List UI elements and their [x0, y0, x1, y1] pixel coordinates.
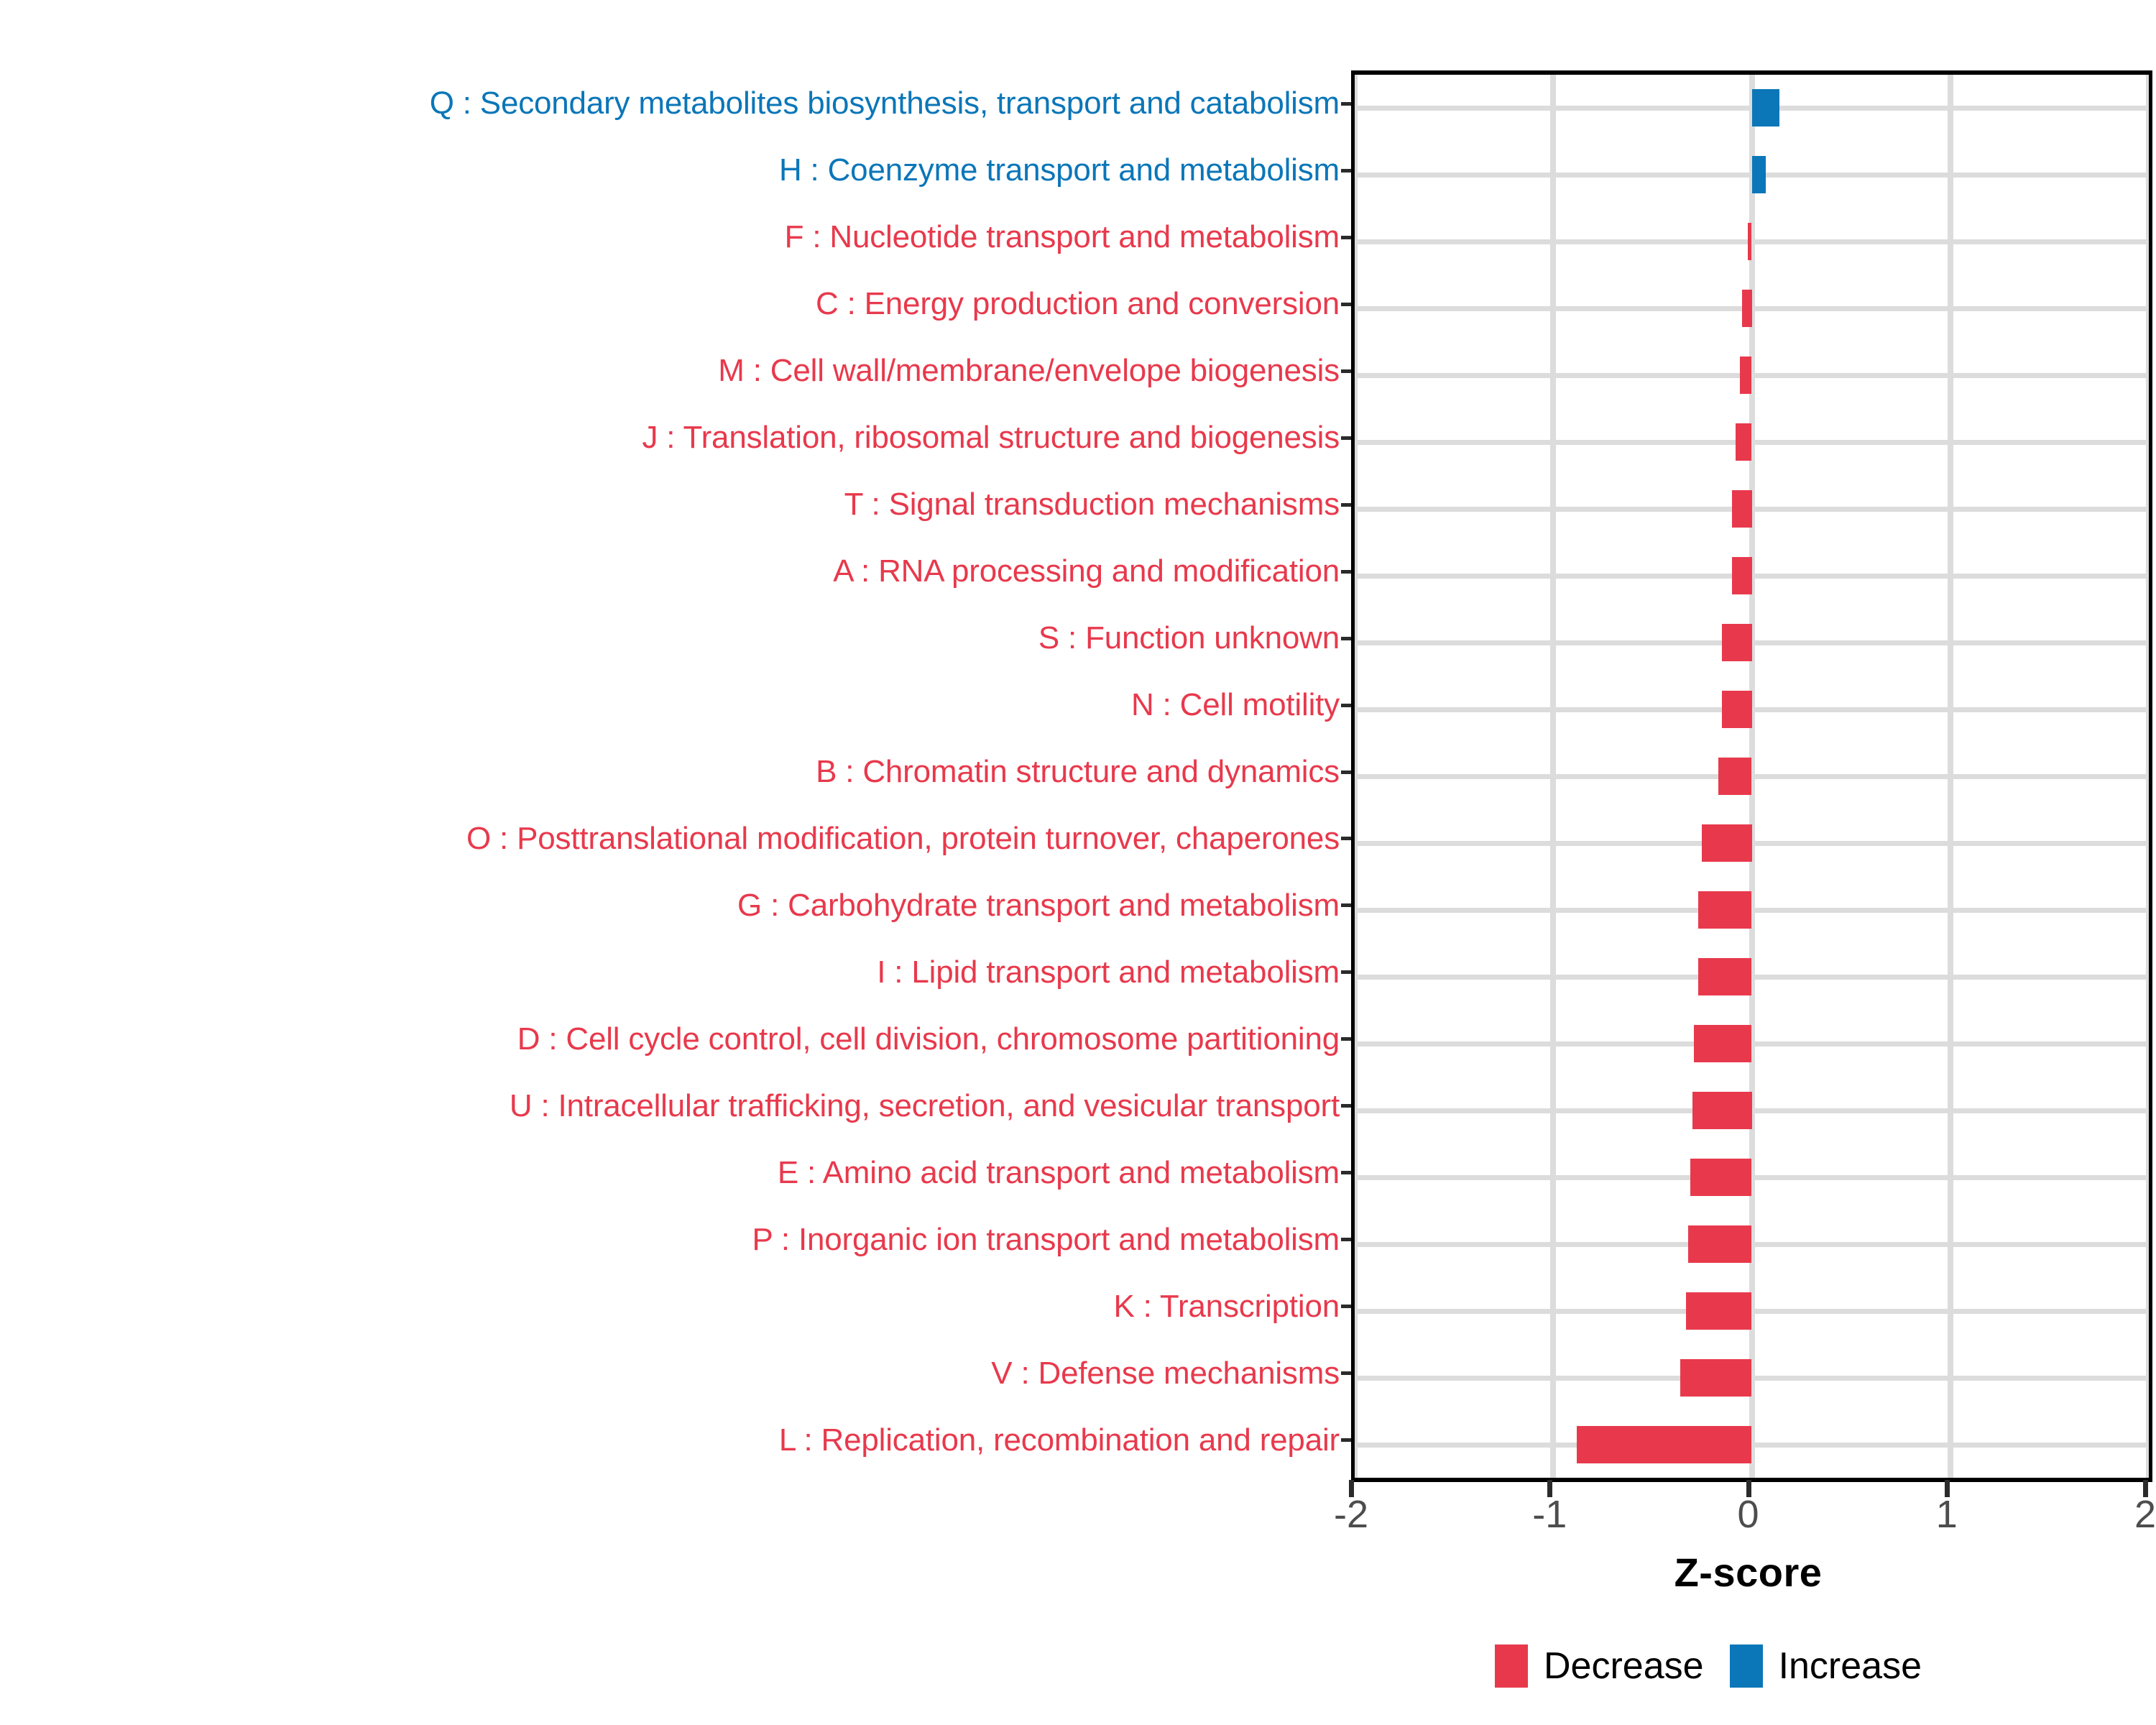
y-axis-tick [1341, 903, 1351, 907]
horizontal-gridline [1355, 841, 2149, 846]
cog-category-zscore-chart: Q : Secondary metabolites biosynthesis, … [0, 0, 2156, 1725]
bar [1718, 758, 1752, 795]
legend-item-increase[interactable]: Increase [1730, 1644, 1922, 1688]
y-axis-tick-row [1341, 1273, 1351, 1340]
category-label-row: Q : Secondary metabolites biosynthesis, … [0, 70, 1350, 137]
y-axis-tick [1341, 1371, 1351, 1375]
bar [1692, 1092, 1752, 1129]
category-label-row: G : Carbohydrate transport and metabolis… [0, 872, 1350, 939]
legend-label: Increase [1779, 1647, 1922, 1685]
category-label: V : Defense mechanisms [991, 1358, 1340, 1389]
chart-legend: DecreaseIncrease [1495, 1644, 1922, 1688]
category-label: U : Intracellular trafficking, secretion… [510, 1090, 1340, 1122]
y-axis-tick [1341, 1037, 1351, 1041]
x-axis-tick-label: 0 [1737, 1495, 1759, 1534]
category-label-row: B : Chromatin structure and dynamics [0, 739, 1350, 806]
horizontal-gridline [1355, 1443, 2149, 1448]
horizontal-gridline [1355, 507, 2149, 512]
y-axis-tick [1341, 1104, 1351, 1108]
bar [1702, 824, 1751, 862]
horizontal-gridline [1355, 373, 2149, 378]
y-axis-tick-row [1341, 1139, 1351, 1206]
bar [1736, 423, 1751, 461]
category-label-row: H : Coenzyme transport and metabolism [0, 137, 1350, 204]
y-axis-tick-row [1341, 1407, 1351, 1473]
category-label: N : Cell motility [1131, 689, 1340, 721]
category-label-row: L : Replication, recombination and repai… [0, 1407, 1350, 1473]
x-axis-tick-labels: -2-1012 [1351, 1495, 2145, 1545]
bar [1722, 624, 1751, 661]
horizontal-gridline [1355, 1309, 2149, 1314]
bar [1688, 1225, 1751, 1263]
x-axis-tick-label: 2 [2134, 1495, 2156, 1534]
bar [1732, 557, 1752, 594]
y-axis-tick-row [1341, 872, 1351, 939]
y-axis-tick-row [1341, 70, 1351, 137]
y-axis-tick-row [1341, 672, 1351, 739]
y-axis-tick-row [1341, 805, 1351, 872]
bar [1680, 1359, 1751, 1397]
plot-panel [1351, 70, 2152, 1482]
bar [1748, 223, 1752, 260]
category-label-row: J : Translation, ribosomal structure and… [0, 405, 1350, 471]
y-axis-tick [1341, 303, 1351, 306]
horizontal-gridline [1355, 306, 2149, 311]
x-axis-title: Z-score [1351, 1549, 2145, 1596]
category-label: M : Cell wall/membrane/envelope biogenes… [718, 355, 1340, 387]
bar [1740, 356, 1752, 394]
y-axis-tick-row [1341, 939, 1351, 1006]
bar [1698, 958, 1752, 995]
legend-item-decrease[interactable]: Decrease [1495, 1644, 1704, 1688]
bar [1686, 1292, 1751, 1330]
y-axis-tick [1341, 1171, 1351, 1174]
category-label-row: D : Cell cycle control, cell division, c… [0, 1006, 1350, 1072]
horizontal-gridline [1355, 440, 2149, 445]
category-label: O : Posttranslational modification, prot… [466, 823, 1340, 855]
y-axis-tick [1341, 236, 1351, 239]
x-axis-tick-label: 1 [1936, 1495, 1958, 1534]
category-label-row: N : Cell motility [0, 672, 1350, 739]
category-label: Q : Secondary metabolites biosynthesis, … [430, 88, 1340, 119]
category-label: P : Inorganic ion transport and metaboli… [752, 1224, 1340, 1256]
category-label: S : Function unknown [1038, 622, 1340, 654]
y-axis-tick [1341, 102, 1351, 106]
category-label: J : Translation, ribosomal structure and… [642, 422, 1340, 454]
horizontal-gridline [1355, 1041, 2149, 1046]
y-axis-tick [1341, 369, 1351, 373]
y-axis-tick [1341, 770, 1351, 774]
category-label: T : Signal transduction mechanisms [844, 489, 1340, 520]
y-axis-tick [1341, 1238, 1351, 1241]
horizontal-gridline [1355, 774, 2149, 779]
y-axis-tick [1341, 704, 1351, 707]
horizontal-gridline [1355, 640, 2149, 645]
legend-swatch-icon [1495, 1644, 1528, 1688]
bar [1752, 89, 1780, 126]
category-label: F : Nucleotide transport and metabolism [785, 221, 1340, 253]
category-label-row: E : Amino acid transport and metabolism [0, 1139, 1350, 1206]
category-label: B : Chromatin structure and dynamics [816, 756, 1340, 788]
horizontal-gridline [1355, 908, 2149, 913]
horizontal-gridline [1355, 1175, 2149, 1180]
legend-swatch-icon [1730, 1644, 1763, 1688]
y-axis-tick-row [1341, 739, 1351, 806]
category-label-row: C : Energy production and conversion [0, 271, 1350, 338]
category-label: D : Cell cycle control, cell division, c… [517, 1023, 1340, 1055]
category-label-row: V : Defense mechanisms [0, 1340, 1350, 1407]
horizontal-gridline [1355, 707, 2149, 712]
category-label: E : Amino acid transport and metabolism [778, 1157, 1340, 1189]
plot-inner-area [1355, 75, 2149, 1478]
y-axis-tick-row [1341, 605, 1351, 672]
category-label: H : Coenzyme transport and metabolism [779, 155, 1340, 186]
y-axis-tick-row [1341, 338, 1351, 405]
bar [1694, 1025, 1751, 1062]
horizontal-gridline [1355, 239, 2149, 244]
bar [1752, 156, 1766, 193]
bar [1742, 290, 1752, 327]
y-axis-tick-row [1341, 271, 1351, 338]
x-axis-tick-label: -2 [1334, 1495, 1368, 1534]
category-label-row: U : Intracellular trafficking, secretion… [0, 1072, 1350, 1139]
y-axis-tick-row [1341, 471, 1351, 538]
y-axis-tick [1341, 570, 1351, 574]
y-axis-tick-row [1341, 1206, 1351, 1273]
bar [1732, 490, 1752, 528]
category-label-row: F : Nucleotide transport and metabolism [0, 204, 1350, 271]
category-label-row: S : Function unknown [0, 605, 1350, 672]
x-axis-tick-label: -1 [1532, 1495, 1567, 1534]
y-axis-tick [1341, 169, 1351, 172]
y-axis-tick [1341, 1438, 1351, 1442]
horizontal-gridline [1355, 975, 2149, 980]
y-axis-tick-row [1341, 538, 1351, 605]
y-axis-tick-row [1341, 1006, 1351, 1072]
bar [1690, 1159, 1752, 1196]
bar [1577, 1426, 1751, 1463]
y-axis-tick-row [1341, 1340, 1351, 1407]
category-label-row: O : Posttranslational modification, prot… [0, 805, 1350, 872]
bar [1698, 891, 1752, 929]
y-axis-tick [1341, 637, 1351, 640]
category-label-row: I : Lipid transport and metabolism [0, 939, 1350, 1006]
category-label: K : Transcription [1113, 1291, 1340, 1322]
legend-label: Decrease [1544, 1647, 1704, 1685]
y-axis-tick-column [1341, 70, 1351, 1473]
y-axis-tick [1341, 436, 1351, 440]
category-label-row: P : Inorganic ion transport and metaboli… [0, 1206, 1350, 1273]
horizontal-gridline [1355, 1376, 2149, 1381]
category-label-row: T : Signal transduction mechanisms [0, 471, 1350, 538]
category-label: G : Carbohydrate transport and metabolis… [737, 890, 1340, 921]
y-axis-tick-row [1341, 204, 1351, 271]
category-label: C : Energy production and conversion [816, 288, 1340, 320]
y-axis-tick-row [1341, 405, 1351, 471]
category-label: A : RNA processing and modification [833, 556, 1340, 587]
horizontal-gridline [1355, 574, 2149, 579]
y-axis-tick-row [1341, 1072, 1351, 1139]
bar [1722, 691, 1751, 728]
y-axis-tick [1341, 1305, 1351, 1308]
category-label: L : Replication, recombination and repai… [779, 1425, 1340, 1456]
category-label: I : Lipid transport and metabolism [877, 957, 1340, 988]
y-axis-tick [1341, 837, 1351, 840]
category-label-row: K : Transcription [0, 1273, 1350, 1340]
category-label-row: M : Cell wall/membrane/envelope biogenes… [0, 338, 1350, 405]
category-label-row: A : RNA processing and modification [0, 538, 1350, 605]
horizontal-gridline [1355, 1242, 2149, 1247]
y-axis-tick-row [1341, 137, 1351, 204]
y-axis-tick [1341, 970, 1351, 974]
y-axis-tick [1341, 503, 1351, 507]
horizontal-gridline [1355, 1108, 2149, 1113]
category-label-column: Q : Secondary metabolites biosynthesis, … [0, 70, 1350, 1473]
